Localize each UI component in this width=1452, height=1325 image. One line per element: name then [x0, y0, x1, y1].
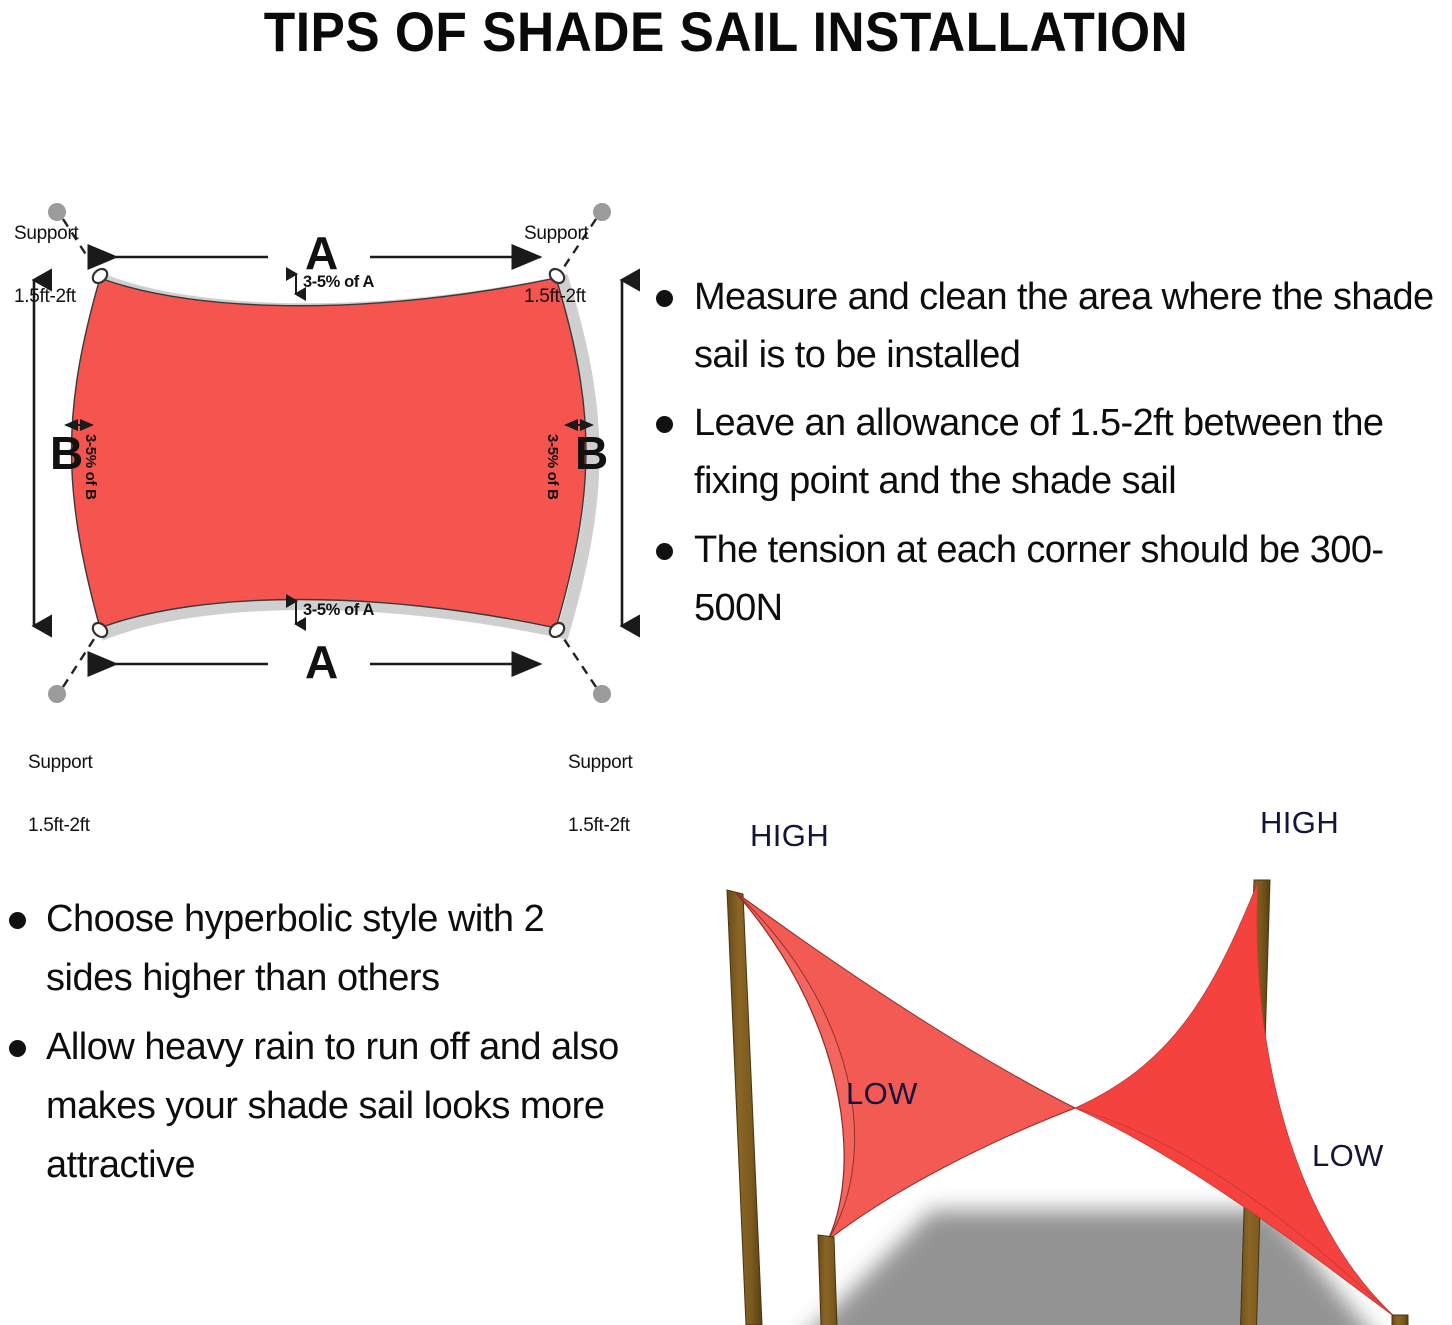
installation-tips-list: Measure and clean the area where the sha…: [648, 268, 1452, 647]
rectangular-sail-diagram: Support 1.5ft-2ft Support 1.5ft-2ft Supp…: [0, 160, 660, 740]
list-item: The tension at each corner should be 300…: [648, 521, 1452, 637]
support-label-top-left: Support 1.5ft-2ft: [14, 180, 78, 350]
dim-label-top-curve: 3-5% of A: [303, 273, 374, 291]
dim-label-right-B: B: [575, 428, 607, 480]
hyperbolic-tips-list: Choose hyperbolic style with 2 sides hig…: [0, 890, 630, 1204]
label-high-right: HIGH: [1260, 805, 1339, 841]
list-item: Allow heavy rain to run off and also mak…: [0, 1018, 630, 1195]
list-item: Choose hyperbolic style with 2 sides hig…: [0, 890, 630, 1008]
pole-low-left: [818, 1235, 840, 1325]
dim-label-bottom-A: A: [305, 637, 337, 689]
list-item: Measure and clean the area where the sha…: [648, 268, 1452, 384]
page-title: TIPS OF SHADE SAIL INSTALLATION: [58, 0, 1394, 62]
dim-label-left-B: B: [50, 428, 82, 480]
sail-web-left: [735, 892, 1075, 1240]
pole-high-left: [727, 890, 762, 1325]
label-low-right: LOW: [1312, 1138, 1384, 1174]
label-low-left: LOW: [846, 1076, 918, 1112]
dim-label-top-A: A: [305, 228, 337, 280]
sail-shape: [72, 278, 587, 628]
pole-low-right: [1392, 1315, 1408, 1325]
label-high-left: HIGH: [750, 818, 829, 854]
support-label-bottom-right: Support 1.5ft-2ft: [568, 709, 632, 879]
dim-label-right-curve: 3-5% of B: [543, 434, 560, 500]
support-label-top-right: Support 1.5ft-2ft: [524, 180, 588, 350]
list-item: Leave an allowance of 1.5-2ft between th…: [648, 394, 1452, 510]
hyperbolic-sail-diagram: HIGH HIGH LOW LOW: [650, 790, 1452, 1325]
dim-label-left-curve: 3-5% of B: [81, 434, 98, 500]
dim-label-bottom-curve: 3-5% of A: [303, 601, 374, 619]
support-label-bottom-left: Support 1.5ft-2ft: [28, 709, 92, 879]
hyperbolic-sail-svg: [650, 790, 1452, 1325]
